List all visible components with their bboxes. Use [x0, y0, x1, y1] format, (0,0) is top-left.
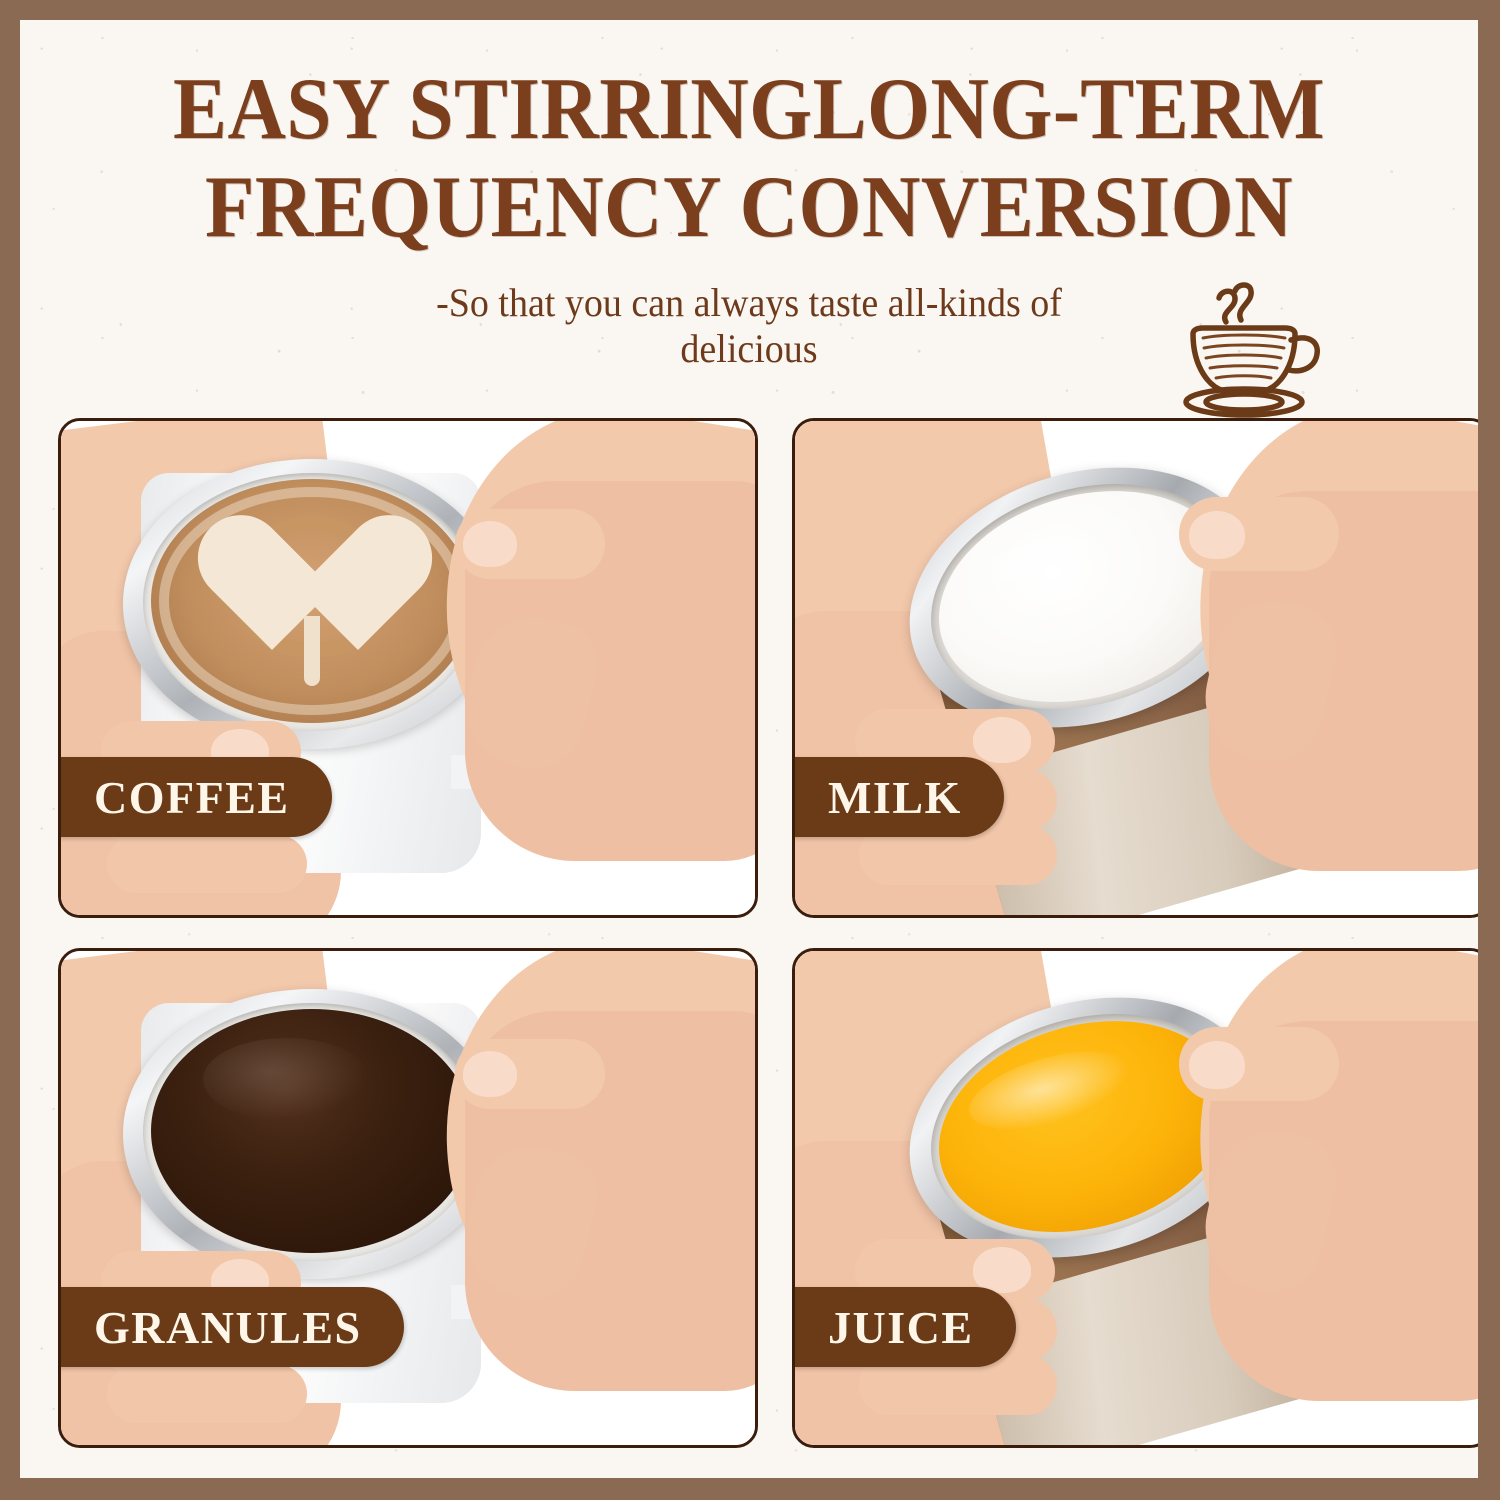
badge-text: COFFEE: [94, 771, 290, 824]
black-coffee-surface: [151, 1009, 473, 1253]
right-thumbnail: [1189, 511, 1245, 559]
photo-black-coffee-mug: [61, 951, 755, 1445]
badge-text: MILK: [828, 771, 962, 824]
label-badge-coffee: COFFEE: [58, 757, 332, 837]
headline-line-1: EASY STIRRINGLONG-TERM: [78, 20, 1419, 156]
panel-coffee[interactable]: COFFEE: [58, 418, 758, 918]
photo-milk-tumbler: [795, 421, 1478, 915]
photo-coffee-mug: [61, 421, 755, 915]
subtitle: -So that you can always taste all-kinds …: [388, 280, 1110, 372]
badge-text: GRANULES: [94, 1301, 362, 1354]
latte-art-stem: [304, 616, 320, 686]
coffee-cup-steam-icon: [1163, 278, 1328, 423]
panel-granules[interactable]: GRANULES: [58, 948, 758, 1448]
label-badge-milk: MILK: [792, 757, 1004, 837]
panel-juice[interactable]: JUICE: [792, 948, 1478, 1448]
right-thumbnail: [463, 1051, 517, 1097]
panel-milk[interactable]: MILK: [792, 418, 1478, 918]
poster-canvas: EASY STIRRINGLONG-TERM FREQUENCY CONVERS…: [20, 20, 1478, 1478]
right-thumbnail: [1189, 1041, 1245, 1089]
badge-text: JUICE: [828, 1301, 974, 1354]
right-thumbnail: [463, 521, 517, 567]
left-fingernail: [973, 1247, 1031, 1293]
latte-surface: [151, 479, 473, 723]
left-finger-3: [107, 1365, 307, 1423]
product-use-case-grid: COFFEE: [58, 418, 1462, 1448]
left-finger-3: [107, 835, 307, 893]
product-poster: EASY STIRRINGLONG-TERM FREQUENCY CONVERS…: [0, 0, 1500, 1500]
headline-line-2: FREQUENCY CONVERSION: [78, 156, 1419, 254]
left-fingernail: [973, 717, 1031, 763]
photo-juice-tumbler: [795, 951, 1478, 1445]
label-badge-juice: JUICE: [792, 1287, 1016, 1367]
liquid-gloss: [203, 1038, 370, 1121]
label-badge-granules: GRANULES: [58, 1287, 404, 1367]
